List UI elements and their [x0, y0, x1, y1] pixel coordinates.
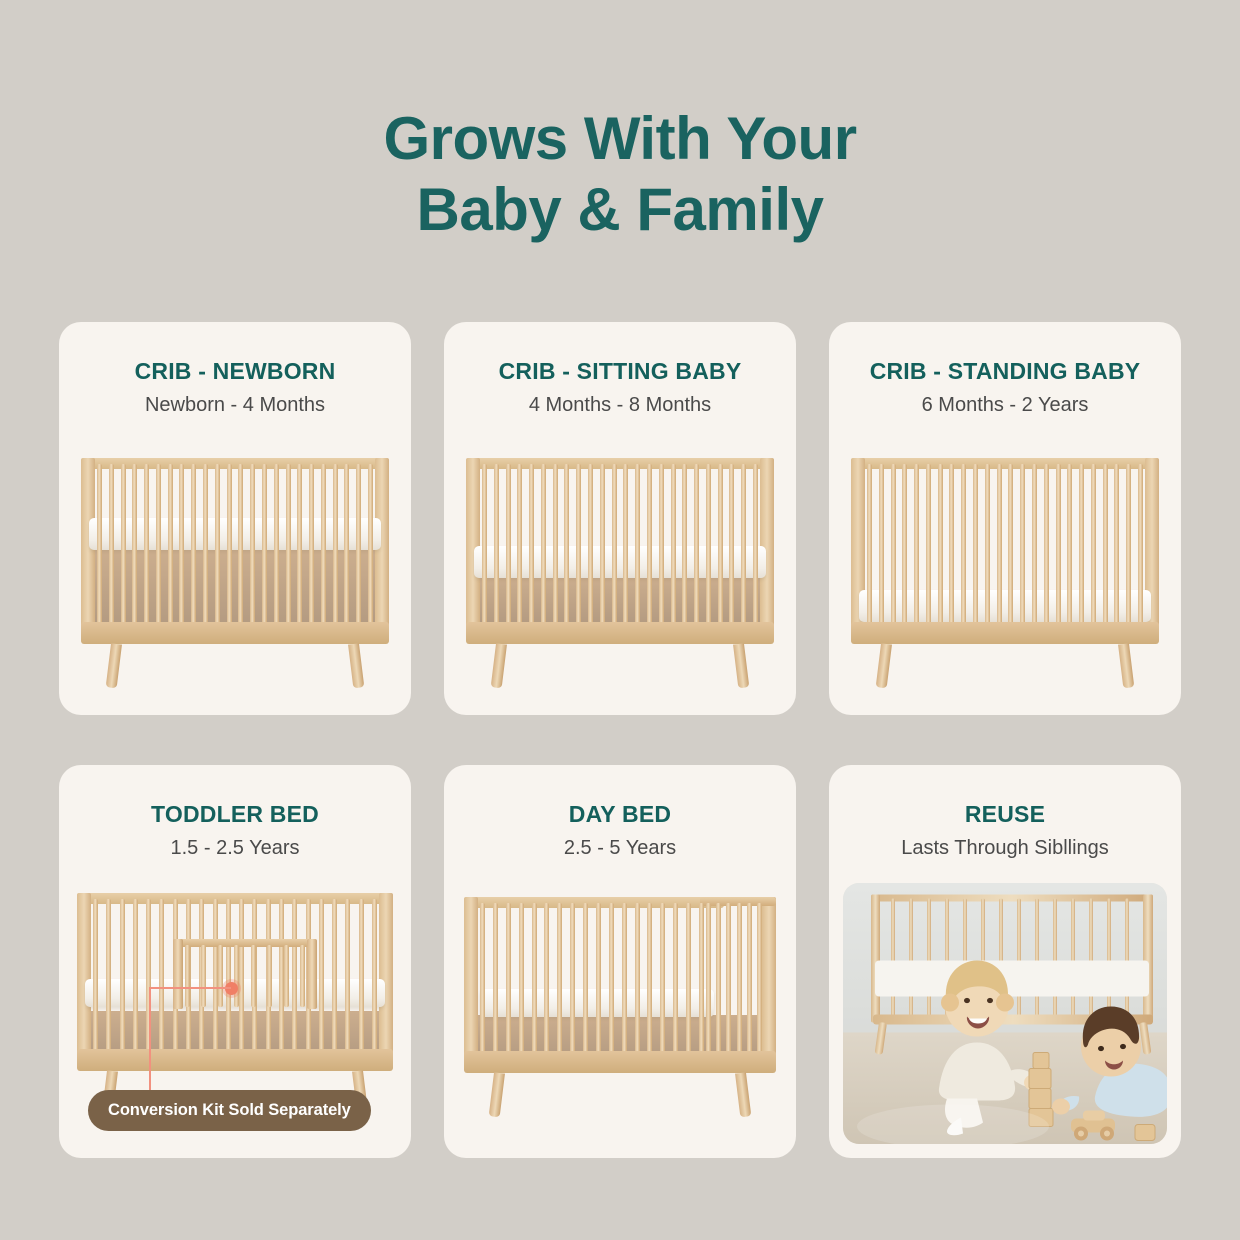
card-title: CRIB - STANDING BABY — [829, 358, 1181, 385]
day-bed-illustration — [444, 883, 796, 1158]
page-title-line-1: Grows With Your — [0, 104, 1240, 175]
reuse-photo-stage — [829, 883, 1181, 1158]
card-header: CRIB - SITTING BABY 4 Months - 8 Months — [444, 322, 796, 417]
card-subtitle: 2.5 - 5 Years — [444, 837, 796, 860]
card-subtitle: 1.5 - 2.5 Years — [59, 837, 411, 860]
card-reuse[interactable]: REUSE Lasts Through Sibllings — [829, 765, 1181, 1158]
toddler-guard-rail — [173, 939, 317, 1009]
conversion-kit-badge: Conversion Kit Sold Separately — [88, 1090, 371, 1131]
pointer-line-horizontal — [149, 987, 231, 989]
crib-illustration-standing — [829, 440, 1181, 715]
card-subtitle: 4 Months - 8 Months — [444, 394, 796, 417]
card-title: TODDLER BED — [59, 801, 411, 828]
card-subtitle: Newborn - 4 Months — [59, 394, 411, 417]
card-header: CRIB - STANDING BABY 6 Months - 2 Years — [829, 322, 1181, 417]
card-header: REUSE Lasts Through Sibllings — [829, 765, 1181, 860]
card-title: CRIB - NEWBORN — [59, 358, 411, 385]
card-crib-newborn[interactable]: CRIB - NEWBORN Newborn - 4 Months — [59, 322, 411, 715]
crib-illustration-sitting — [444, 440, 796, 715]
card-crib-sitting-baby[interactable]: CRIB - SITTING BABY 4 Months - 8 Months — [444, 322, 796, 715]
card-subtitle: 6 Months - 2 Years — [829, 394, 1181, 417]
card-header: DAY BED 2.5 - 5 Years — [444, 765, 796, 860]
card-title: REUSE — [829, 801, 1181, 828]
card-toddler-bed[interactable]: TODDLER BED 1.5 - 2.5 Years — [59, 765, 411, 1158]
card-title: DAY BED — [444, 801, 796, 828]
card-crib-standing-baby[interactable]: CRIB - STANDING BABY 6 Months - 2 Years — [829, 322, 1181, 715]
crib-illustration-newborn — [59, 440, 411, 715]
card-header: TODDLER BED 1.5 - 2.5 Years — [59, 765, 411, 860]
card-title: CRIB - SITTING BABY — [444, 358, 796, 385]
card-subtitle: Lasts Through Sibllings — [829, 837, 1181, 860]
page-title-line-2: Baby & Family — [0, 175, 1240, 246]
reuse-lifestyle-photo — [843, 883, 1167, 1144]
card-header: CRIB - NEWBORN Newborn - 4 Months — [59, 322, 411, 417]
lifecycle-card-grid: CRIB - NEWBORN Newborn - 4 Months — [59, 322, 1181, 1158]
page-title: Grows With Your Baby & Family — [0, 104, 1240, 246]
card-day-bed[interactable]: DAY BED 2.5 - 5 Years — [444, 765, 796, 1158]
